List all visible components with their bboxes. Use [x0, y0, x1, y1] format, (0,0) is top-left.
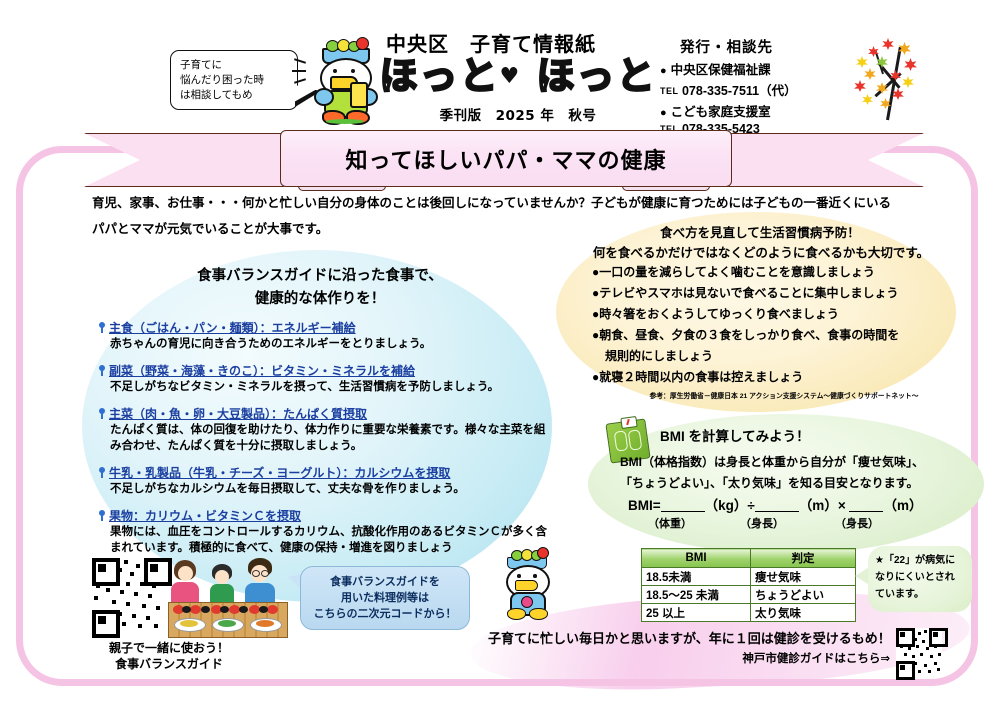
- logo-text-right: ほっと: [536, 54, 656, 98]
- bmi-column-header-bmi: BMI: [642, 549, 751, 568]
- fb-bubble-line-2: 用いた料理例等は: [314, 590, 457, 606]
- food-guide-heading-line-1: 食事バランスガイドに沿った食事で、: [120, 265, 520, 288]
- food-guide-item-title: 主食（ごはん・パン・麺類）：エネルギー補給: [98, 320, 548, 336]
- eating-bullet: ●テレビやスマホは見ないで食べることに集中しましょう: [592, 283, 952, 304]
- issue-label: 季刊版 2025 年 秋号: [378, 104, 658, 124]
- intro-bubble-line-3: は相談してもめ: [180, 88, 288, 103]
- eating-bullet: ●一口の量を減らしてよく噛むことを意識しましょう: [592, 262, 952, 283]
- eating-habits-list: ●一口の量を減らしてよく噛むことを意識しましょう ●テレビやスマホは見ないで食べ…: [592, 262, 952, 388]
- telephone-icon: TEL: [660, 86, 679, 96]
- family-meal-illustration: [168, 554, 286, 636]
- qr1-caption-line-2: 食事バランスガイド: [84, 656, 254, 672]
- qr-code-icon[interactable]: [92, 558, 164, 630]
- bmi-height-blank-1[interactable]: [755, 497, 799, 512]
- fb-bubble-line-3: こちらの二次元コードから！: [314, 606, 457, 622]
- bmi-label-height-1: （身長）: [712, 515, 812, 531]
- bmi-weight-blank[interactable]: [661, 497, 705, 512]
- eating-habits-heading: 食べ方を見直して生活習慣病予防！: [600, 222, 920, 241]
- food-guide-item-title: 副菜（野菜・海藻・きのこ）：ビタミン・ミネラルを補給: [98, 363, 548, 379]
- food-guide-item: 主菜（肉・魚・卵・大豆製品）：たんぱく質摂取 たんぱく質は、体の回復を助けたり、…: [98, 406, 548, 454]
- bullet-icon: ●: [660, 65, 667, 77]
- closing-message: 子育てに忙しい毎日かと思いますが、年に１回は健診を受けるもめ！: [488, 628, 908, 647]
- fb-bubble-line-1: 食事バランスガイドを: [314, 574, 457, 590]
- eating-bullet-continuation: 規則的にしましょう: [592, 346, 952, 367]
- food-guide-qr-bubble: 食事バランスガイドを 用いた料理例等は こちらの二次元コードから！: [300, 566, 470, 630]
- bmi-note-line-2: なりにくいとされ: [875, 569, 965, 586]
- duck-mascot-icon: [496, 548, 556, 620]
- closing-submessage: 神戸市健診ガイドはこちら⇒: [560, 650, 890, 666]
- contact-tel-1: TEL 078-335-7511（代）: [660, 80, 870, 99]
- eating-bullet: ●就寝２時間以内の食事は控えましょう: [592, 367, 952, 388]
- contact-title: 発行・相談先: [680, 36, 870, 57]
- bmi-label-height-2: （身長）: [812, 515, 902, 531]
- section-ribbon-banner: 知ってほしいパパ・ママの健康: [84, 133, 924, 185]
- bmi-heading: BMI を計算してみよう！: [660, 425, 960, 445]
- ribbon-wing-right: [724, 133, 924, 187]
- food-guide-item-title: 主菜（肉・魚・卵・大豆製品）：たんぱく質摂取: [98, 406, 548, 422]
- bmi-description: BMI（体格指数）は身長と体重から自分が「痩せ気味」、 「ちょうどよい」、「太り…: [620, 452, 970, 494]
- food-guide-item-title: 牛乳・乳製品（牛乳・チーズ・ヨーグルト）：カルシウムを摂取: [98, 465, 548, 481]
- bmi-range-cell: 18.5未満: [642, 568, 751, 586]
- bmi-note-line-1: ★「22」が病気に: [875, 552, 965, 569]
- food-guide-item-body: 赤ちゃんの育児に向き合うためのエネルギーをとりましょう。: [110, 336, 548, 352]
- contact-org-2: ●こども家庭支援室: [660, 101, 870, 120]
- food-guide-item: 果物：カリウム・ビタミンＣを摂取 果物には、血圧をコントロールするカリウム、抗酸…: [98, 508, 548, 556]
- food-guide-heading-line-2: 健康的な体作りを！: [120, 288, 520, 311]
- intro-speech-bubble: 子育てに 悩んだり困った時 は相談してもめ: [170, 50, 298, 110]
- bmi-formula-m2: （m）: [883, 498, 922, 513]
- pin-icon: [98, 365, 106, 376]
- bmi-formula-m1: （m）×: [799, 498, 846, 513]
- bmi-range-cell: 25 以上: [642, 604, 751, 622]
- qr1-caption: 親子で一緒に使おう！ 食事バランスガイド: [84, 640, 254, 672]
- qr-code-icon[interactable]: [896, 628, 942, 674]
- contact-block: 発行・相談先 ●中央区保健福祉課 TEL 078-335-7511（代） ●こど…: [660, 36, 870, 136]
- bullet-icon: ●: [660, 107, 667, 119]
- bmi-note-line-3: ています。: [875, 586, 965, 603]
- ribbon-center-panel: 知ってほしいパパ・ママの健康: [280, 130, 732, 187]
- bmi-formula: BMI=（kg）÷（m）× （m）: [628, 494, 968, 514]
- food-guide-item-body: たんぱく質は、体の回復を助けたり、体力作りに重要な栄養素です。様々な主菜を組み合…: [110, 422, 548, 454]
- bmi-formula-prefix: BMI=: [628, 498, 661, 513]
- eating-habits-reference: 参考：厚生労働省－健康日本 21 アクション支援システム～健康づくりサポートネッ…: [604, 390, 964, 400]
- food-guide-item: 牛乳・乳製品（牛乳・チーズ・ヨーグルト）：カルシウムを摂取 不足しがちなカルシウ…: [98, 465, 548, 497]
- ribbon-wing-left: [84, 133, 284, 187]
- pin-icon: [98, 467, 106, 478]
- ribbon-title: 知ってほしいパパ・ママの健康: [346, 143, 667, 175]
- food-guide-heading: 食事バランスガイドに沿った食事で、 健康的な体作りを！: [120, 265, 520, 311]
- eating-bullet: ●時々箸をおくようしてゆっくり食べましょう: [592, 304, 952, 325]
- bmi-table-header-row: BMI 判定: [642, 549, 856, 568]
- bmi-column-header-judgement: 判定: [751, 549, 856, 568]
- bmi-formula-labels: （体重）（身長）（身長）: [628, 515, 968, 531]
- food-guide-item-title: 果物：カリウム・ビタミンＣを摂取: [98, 508, 548, 524]
- food-guide-item-body: 果物には、血圧をコントロールするカリウム、抗酸化作用のあるビタミンＣが多く含まれ…: [110, 524, 548, 556]
- qr1-caption-line-1: 親子で一緒に使おう！: [84, 640, 254, 656]
- table-row: 18.5～25 未満 ちょうどよい: [642, 586, 856, 604]
- pin-icon: [98, 322, 106, 333]
- bmi-range-cell: 18.5～25 未満: [642, 586, 751, 604]
- intro-bubble-line-1: 子育てに: [180, 58, 288, 73]
- bmi-table: BMI 判定 18.5未満 痩せ気味 18.5～25 未満 ちょうどよい 25 …: [641, 548, 856, 622]
- bmi-label-weight: （体重）: [628, 515, 712, 531]
- publication-logo: ほっと♥ ほっと: [378, 52, 658, 100]
- bmi-description-line-1: BMI（体格指数）は身長と体重から自分が「痩せ気味」、: [620, 452, 970, 473]
- bmi-formula-kg: （kg）÷: [705, 498, 755, 513]
- contact-org-1: ●中央区保健福祉課: [660, 59, 870, 78]
- pin-icon: [98, 510, 106, 521]
- duck-mascot-icon: [306, 38, 382, 122]
- bmi-judgement-cell: 痩せ気味: [751, 568, 856, 586]
- logo-text-left: ほっと: [380, 54, 500, 98]
- bmi-judgement-cell: ちょうどよい: [751, 586, 856, 604]
- table-row: 25 以上 太り気味: [642, 604, 856, 622]
- heart-icon: ♥: [500, 64, 522, 89]
- intro-bubble-line-2: 悩んだり困った時: [180, 73, 288, 88]
- eating-habits-subheading: 何を食べるかだけではなくどのように食べるかも大切です。: [566, 242, 956, 261]
- food-guide-list: 主食（ごはん・パン・麺類）：エネルギー補給 赤ちゃんの育児に向き合うためのエネル…: [98, 320, 548, 567]
- food-guide-item: 主食（ごはん・パン・麺類）：エネルギー補給 赤ちゃんの育児に向き合うためのエネル…: [98, 320, 548, 352]
- food-guide-item-body: 不足しがちなビタミン・ミネラルを摂って、生活習慣病を予防しましょう。: [110, 379, 548, 395]
- pin-icon: [98, 408, 106, 419]
- bmi-note-callout: ★「22」が病気に なりにくいとされ ています。: [868, 546, 972, 612]
- eating-bullet: ●朝食、昼食、夕食の３食をしっかり食べ、食事の時間を: [592, 325, 952, 346]
- food-guide-item-body: 不足しがちなカルシウムを毎日摂取して、丈夫な骨を作りましょう。: [110, 481, 548, 497]
- header: 子育てに 悩んだり困った時 は相談してもめ 中央区 子育て情報紙 ほっと♥: [0, 0, 1000, 132]
- maple-branch-icon: [852, 36, 932, 122]
- bmi-judgement-cell: 太り気味: [751, 604, 856, 622]
- bmi-height-blank-2[interactable]: [849, 497, 883, 512]
- food-guide-item: 副菜（野菜・海藻・きのこ）：ビタミン・ミネラルを補給 不足しがちなビタミン・ミネ…: [98, 363, 548, 395]
- bmi-description-line-2: 「ちょうどよい」、「太り気味」を知る目安となります。: [620, 473, 970, 494]
- table-row: 18.5未満 痩せ気味: [642, 568, 856, 586]
